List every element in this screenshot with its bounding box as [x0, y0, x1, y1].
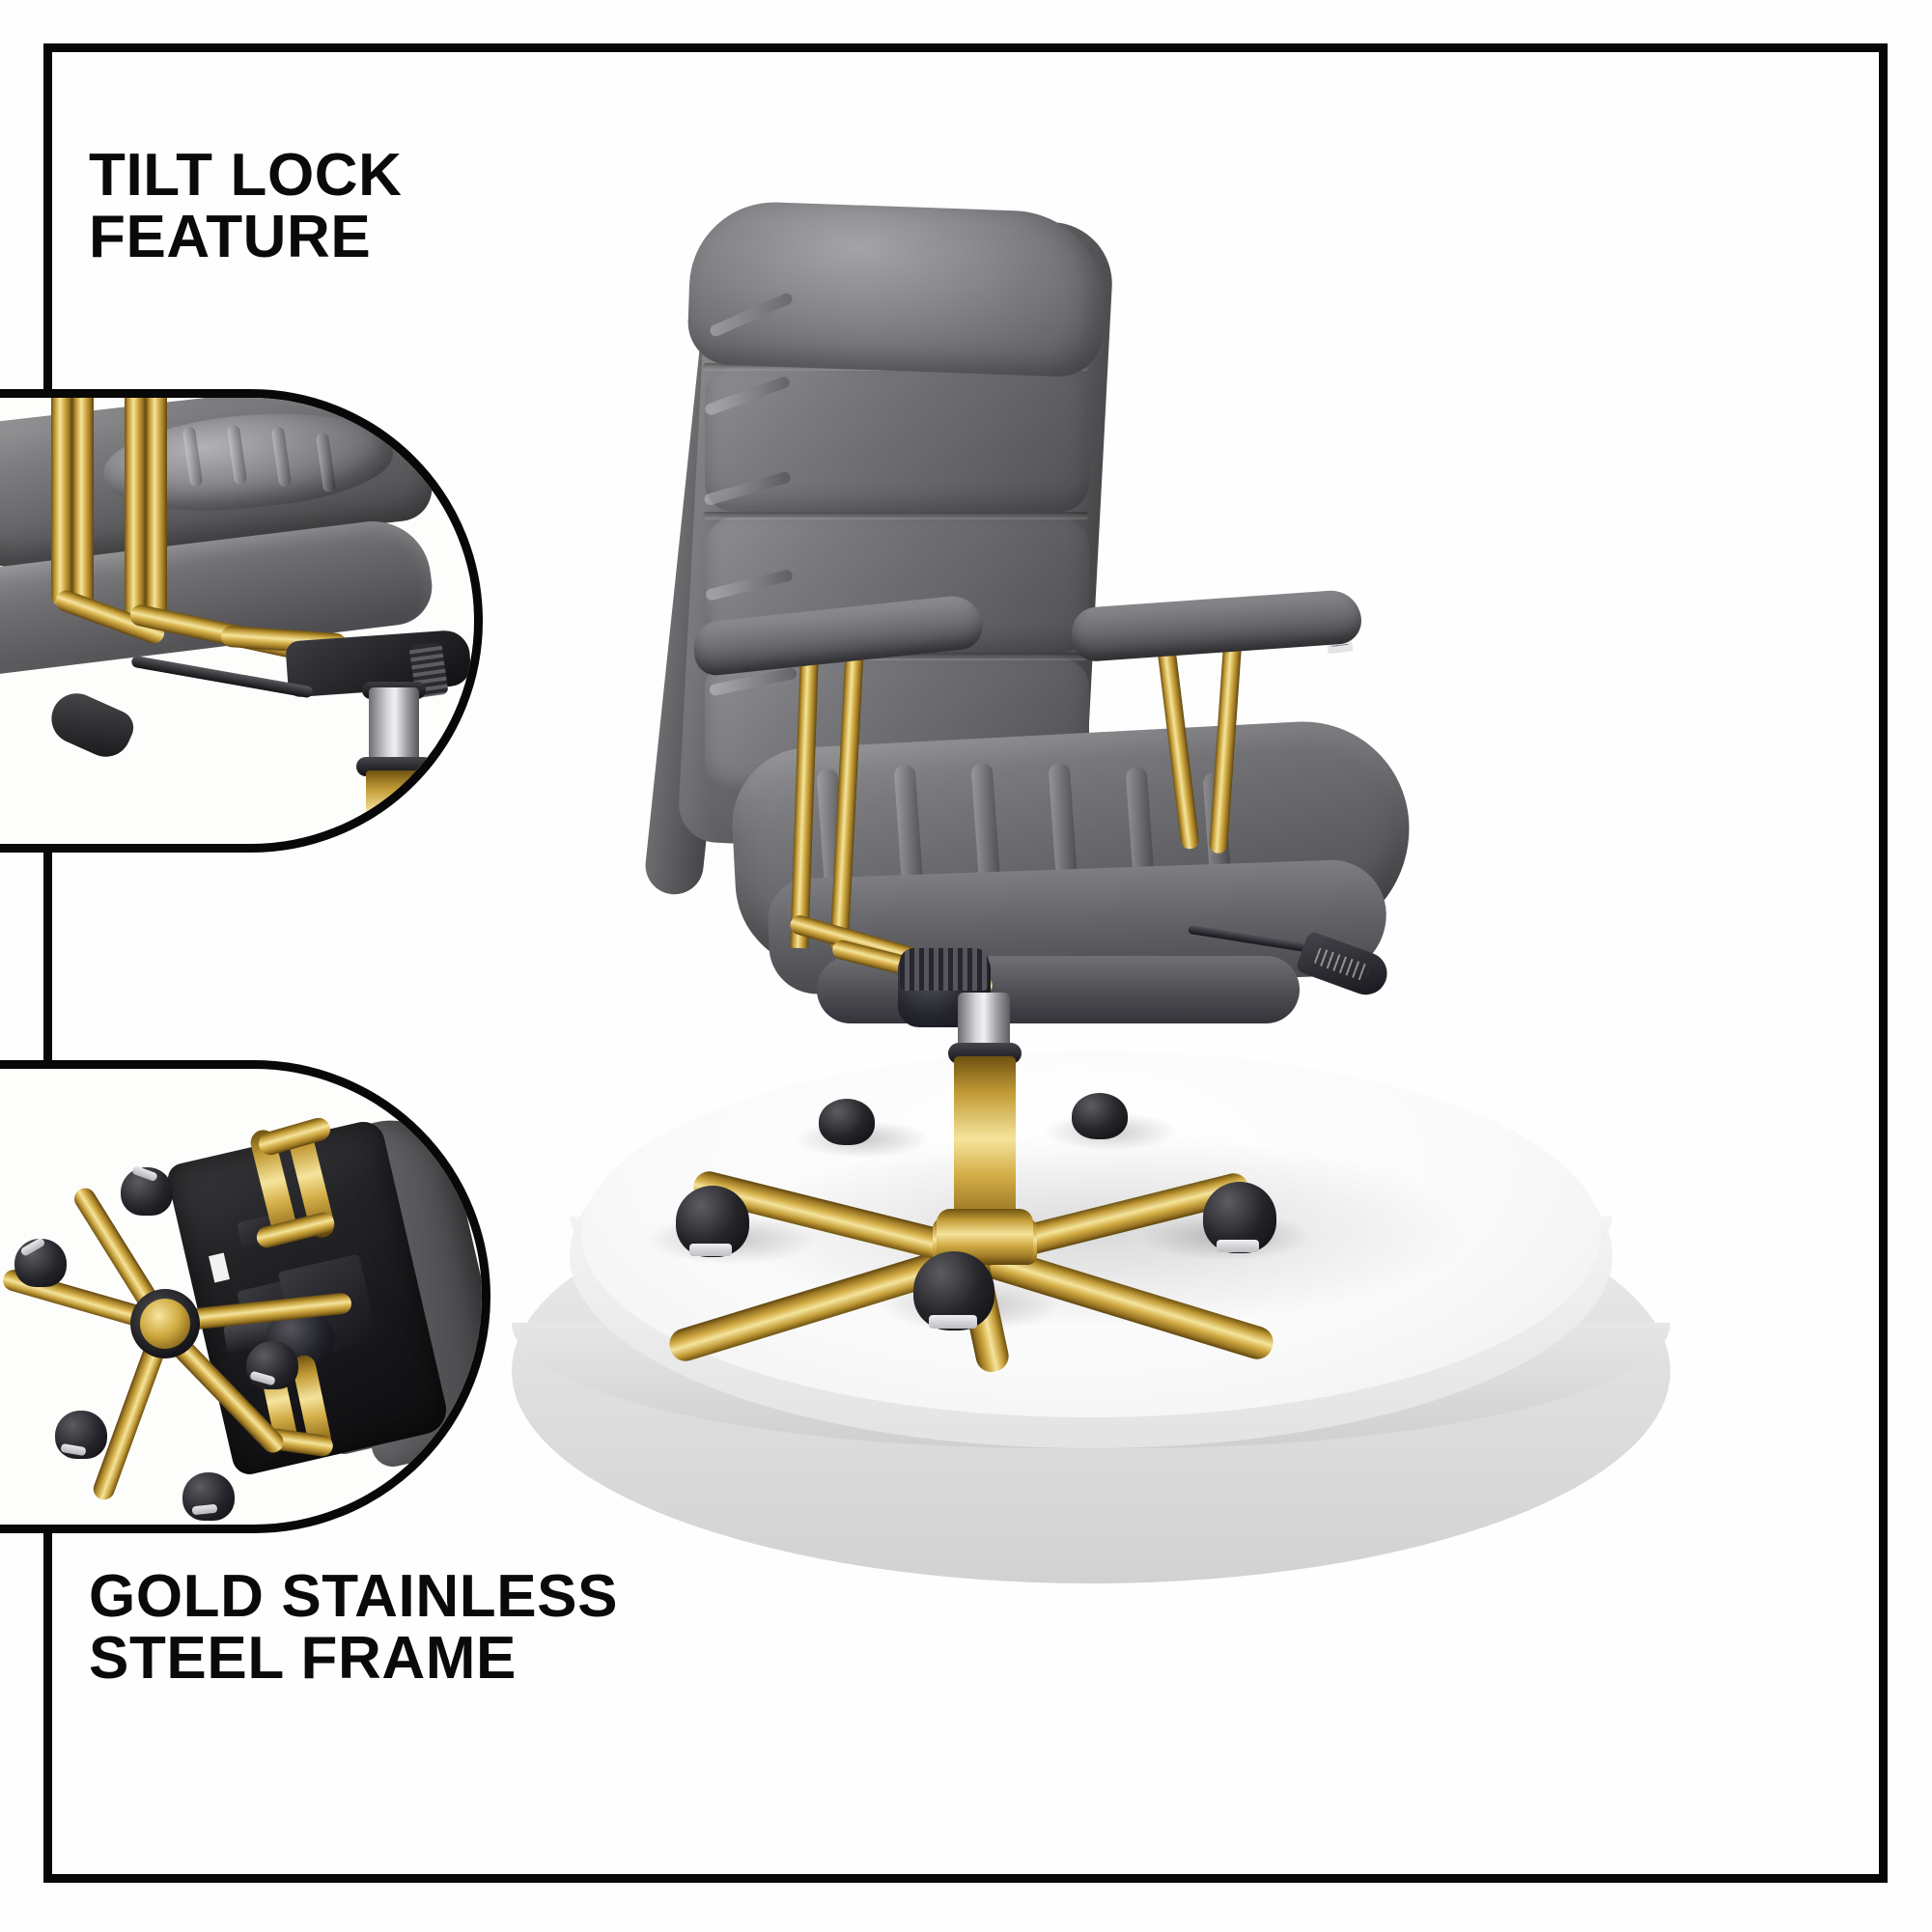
callout-heading-gold-frame: GOLD STAINLESS STEEL FRAME [89, 1566, 618, 1691]
gold-gas-cylinder [366, 770, 426, 853]
chrome-shaft [958, 993, 1010, 1050]
backrest-seam [703, 512, 1089, 519]
caster-lip [1217, 1240, 1259, 1252]
armrest-right-pad [1070, 589, 1362, 663]
tilt-tension-knob-ribs [900, 948, 989, 991]
infographic-canvas: TILT LOCK FEATURE GOLD STAINLESS STEEL F… [0, 0, 1932, 1932]
callout-heading-tilt-lock: TILT LOCK FEATURE [89, 145, 403, 269]
caster-rear-right [1072, 1093, 1128, 1139]
caster-lip [689, 1244, 732, 1256]
caster-rear-left [819, 1099, 875, 1145]
frame-tube-front [125, 389, 146, 618]
tilt-lock-detail-photo [0, 389, 483, 853]
divider-line-top [43, 43, 52, 391]
chrome-shaft [369, 687, 419, 765]
divider-line-middle [43, 850, 52, 1067]
caster-lip [929, 1315, 977, 1329]
frame-tube-rear [51, 389, 72, 606]
divider-line-bottom [43, 1530, 52, 1883]
headrest-roll [686, 200, 1107, 378]
gold-frame-detail-photo [0, 1060, 490, 1533]
frame-tube-front2 [146, 389, 167, 622]
tilt-lock-lever-knob[interactable] [43, 686, 139, 765]
base-hub [140, 1299, 190, 1349]
frame-tube-rear2 [72, 389, 94, 610]
hero-product-photo [589, 193, 1883, 1854]
